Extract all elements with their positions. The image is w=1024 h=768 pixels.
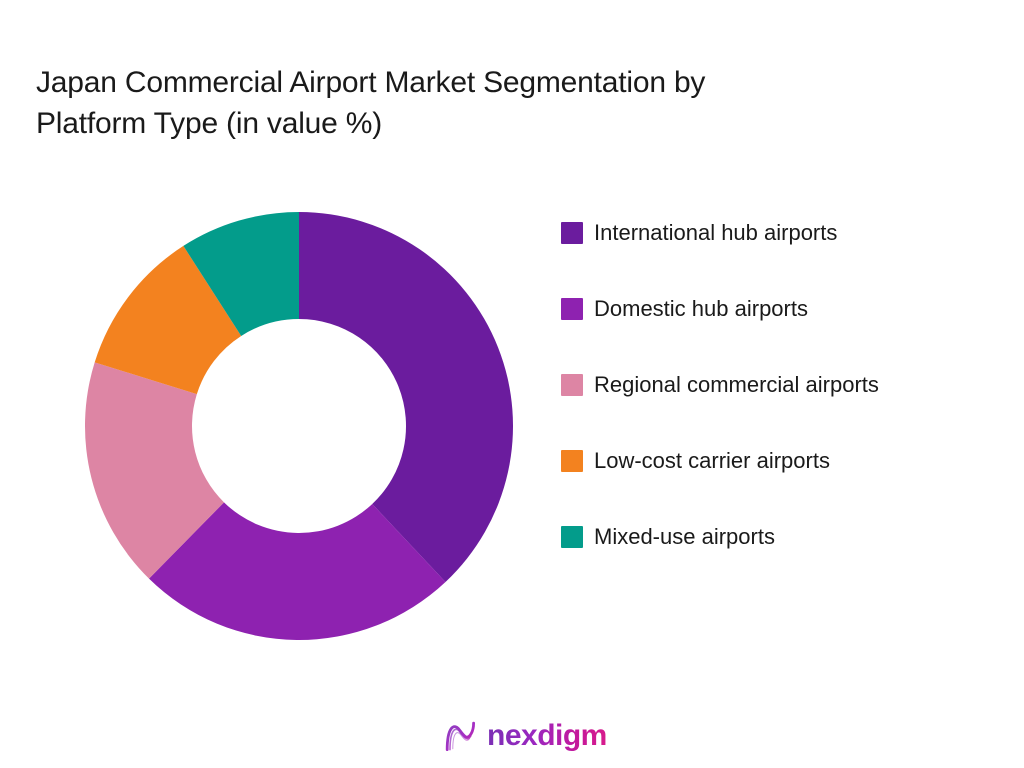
legend-item-low-cost-carrier-airports[interactable]: Low-cost carrier airports	[561, 450, 1011, 472]
legend-swatch-icon	[561, 298, 583, 320]
legend-swatch-icon	[561, 374, 583, 396]
donut-chart-svg	[85, 212, 513, 640]
legend-item-domestic-hub-airports[interactable]: Domestic hub airports	[561, 298, 1011, 320]
nexdigm-n-mark-icon	[440, 716, 480, 756]
legend-swatch-icon	[561, 222, 583, 244]
brand-wordmark: nexdigm	[487, 721, 607, 751]
legend-item-regional-commercial-airports[interactable]: Regional commercial airports	[561, 374, 1011, 396]
legend-swatch-icon	[561, 450, 583, 472]
legend-item-international-hub-airports[interactable]: International hub airports	[561, 222, 1011, 244]
legend-item-label: International hub airports	[594, 221, 837, 245]
donut-slice[interactable]	[299, 212, 513, 582]
chart-legend: International hub airports Domestic hub …	[561, 222, 1011, 548]
brand-logo: nexdigm	[440, 714, 607, 758]
legend-item-label: Domestic hub airports	[594, 297, 808, 321]
legend-item-label: Low-cost carrier airports	[594, 449, 830, 473]
legend-item-mixed-use-airports[interactable]: Mixed-use airports	[561, 526, 1011, 548]
chart-page: Japan Commercial Airport Market Segmenta…	[0, 0, 1024, 768]
donut-chart	[85, 212, 513, 640]
legend-swatch-icon	[561, 526, 583, 548]
legend-item-label: Regional commercial airports	[594, 373, 879, 397]
donut-slice-group	[85, 212, 513, 640]
legend-item-label: Mixed-use airports	[594, 525, 775, 549]
page-title: Japan Commercial Airport Market Segmenta…	[36, 62, 936, 144]
